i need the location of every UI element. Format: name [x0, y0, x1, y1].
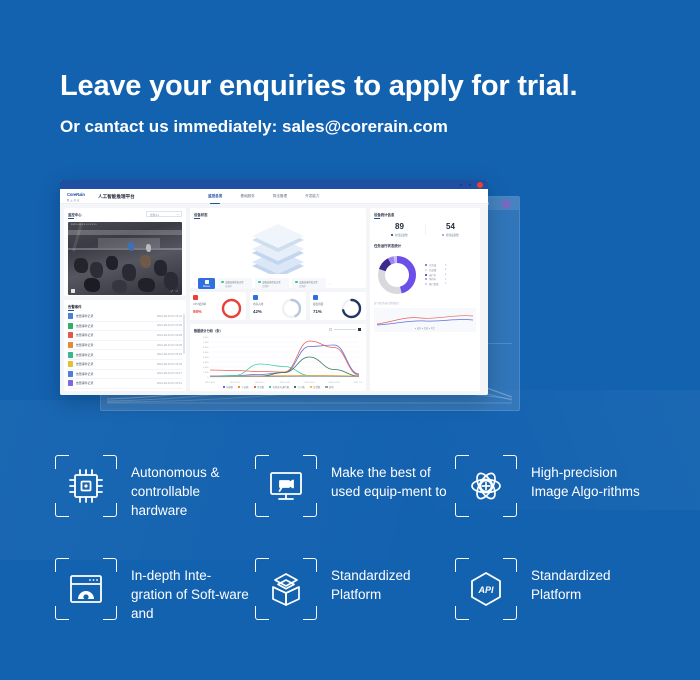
- minimize-icon[interactable]: [460, 184, 463, 187]
- device-line-2: 在线中: [225, 284, 232, 288]
- event-name: 告警事件记录: [76, 314, 157, 318]
- title-underline: [68, 310, 74, 311]
- device-card-title: 设备状态: [194, 212, 362, 217]
- list-item[interactable]: 告警事件记录2021-09-13 07:23:14: [68, 379, 182, 389]
- legend-item: 等待中1: [425, 277, 446, 282]
- nav-item-overview[interactable]: 监控总览: [208, 194, 222, 202]
- list-item[interactable]: 告警事件记录2021-09-13 07:23:31: [68, 312, 182, 322]
- legend-value: 4: [445, 268, 446, 271]
- line-chart-plot: 01,0002,0003,0004,0005,0006,0007,0008,00…: [194, 334, 362, 386]
- event-timestamp: 2021-09-13 07:23:22: [157, 363, 182, 366]
- gauge-ring: [281, 298, 302, 319]
- slider-track[interactable]: [334, 329, 356, 330]
- event-type-icon: [68, 323, 73, 329]
- feature-label: Standardized Platform: [531, 558, 651, 604]
- svg-text:2021-10-8: 2021-10-8: [280, 382, 291, 384]
- device-item[interactable]: 设备连接状态正常 在线中: [218, 278, 252, 289]
- monitor-camera-icon: [266, 466, 306, 506]
- svg-text:1,000: 1,000: [203, 372, 209, 374]
- legend-swatch: [269, 386, 271, 388]
- gauge-card: CPU使用率98%: [190, 292, 246, 320]
- stat-label: 离线设备数: [425, 233, 476, 237]
- legend-item[interactable]: 车辆数: [223, 385, 234, 389]
- status-dot: [258, 281, 260, 283]
- legend-label: 告警数: [313, 386, 320, 389]
- feature-icon-frame: [55, 558, 117, 620]
- svg-text:2021-10-7: 2021-10-7: [255, 382, 266, 384]
- feature-icon-frame: [255, 455, 317, 517]
- event-name: 告警事件记录: [76, 372, 157, 376]
- stat-value: 54: [425, 222, 476, 231]
- event-type-icon: [68, 342, 73, 348]
- stat-label: 在线设备数: [374, 233, 425, 237]
- events-list: 告警事件记录2021-09-13 07:23:31告警事件记录2021-09-1…: [68, 312, 182, 389]
- event-type-icon: [68, 332, 73, 338]
- legend-item[interactable]: 其他: [325, 385, 333, 389]
- slider-icon[interactable]: [358, 328, 361, 331]
- squares-icon[interactable]: [329, 328, 332, 331]
- app-header: CoreRain 鲲云科技 人工智能推理平台 监控总览 基础服务 算法管理 开发…: [60, 189, 488, 204]
- feature-item[interactable]: Autonomous & controllable hardware: [55, 455, 255, 520]
- event-type-icon: [68, 313, 73, 319]
- gauge-card: 磁盘容量71%: [310, 292, 366, 320]
- feature-icon-frame: [55, 455, 117, 517]
- mini-trend-card: ● 成功 ● 失败 ● 待定: [374, 308, 476, 332]
- event-timestamp: 2021-09-13 07:23:14: [157, 382, 182, 385]
- legend-swatch: [425, 274, 427, 276]
- right-column: 设备统计信息 89 在线设备数 54 离线设备数 任务运行状态统计: [370, 208, 480, 391]
- feature-icon-frame: [455, 455, 517, 517]
- device-item[interactable]: 设备连接状态正常 在线中: [255, 278, 289, 289]
- dashboard-app-window[interactable]: CoreRain 鲲云科技 人工智能推理平台 监控总览 基础服务 算法管理 开发…: [60, 180, 488, 395]
- legend-swatch: [238, 386, 240, 388]
- list-item[interactable]: 告警事件记录2021-09-13 07:23:23: [68, 350, 182, 360]
- feature-icon-frame: API: [455, 558, 517, 620]
- features-grid: Autonomous & controllable hardwareMake t…: [55, 455, 655, 623]
- event-type-icon: [68, 361, 73, 367]
- list-item[interactable]: 告警事件记录2021-09-13 07:23:28: [68, 331, 182, 341]
- middle-column: 设备状态: [190, 208, 366, 391]
- title-underline: [374, 218, 380, 219]
- alarm-events-card: 告警事件 告警事件记录2021-09-13 07:23:31告警事件记录2021…: [64, 300, 186, 391]
- legend-item[interactable]: 人员数: [238, 385, 249, 389]
- list-item[interactable]: 告警事件记录2021-09-13 07:23:22: [68, 360, 182, 370]
- server-icon: [205, 280, 209, 284]
- legend-item[interactable]: 告警数: [310, 385, 321, 389]
- legend-item: 已就绪4: [425, 268, 446, 273]
- title-underline: [194, 218, 200, 219]
- legend-label: 已就绪: [429, 268, 445, 272]
- prev-arrow-icon[interactable]: ‹: [194, 282, 195, 286]
- close-icon[interactable]: [477, 182, 483, 188]
- svg-text:2,000: 2,000: [203, 367, 209, 369]
- line-chart-legend: 车辆数人员数异常数非机动车通行数行人数告警数其他: [190, 385, 366, 389]
- donut-title: 任务运行状态统计: [374, 243, 476, 248]
- stat-value: 89: [374, 222, 425, 231]
- scrollbar[interactable]: [183, 314, 184, 354]
- legend-swatch: [425, 264, 427, 266]
- svg-text:API: API: [477, 585, 494, 595]
- avatar: [501, 199, 511, 209]
- page-headline: Leave your enquiries to apply for trial.: [60, 70, 577, 103]
- svg-text:7,000: 7,000: [203, 342, 209, 344]
- legend-item: 执行失败1: [425, 281, 446, 286]
- legend-swatch: [310, 386, 312, 388]
- nav-item-algorithms[interactable]: 算法管理: [273, 194, 287, 202]
- event-type-icon: [68, 371, 73, 377]
- legend-item: 运行中2: [425, 272, 446, 277]
- maximize-icon[interactable]: [469, 184, 472, 187]
- brand-logo: CoreRain: [67, 192, 85, 197]
- event-timestamp: 2021-09-13 07:23:23: [157, 353, 182, 356]
- legend-swatch: [425, 283, 427, 285]
- svg-text:0: 0: [207, 377, 209, 379]
- stack-illustration: [194, 220, 362, 274]
- legend-label: 执行失败: [429, 282, 445, 286]
- monitor-feed-card: 监控中心 摄像头1: [64, 208, 186, 296]
- chevron-down-icon: [177, 214, 179, 215]
- svg-text:8,000: 8,000: [203, 337, 209, 339]
- stat-offline: 54 离线设备数: [425, 222, 476, 237]
- event-name: 告警事件记录: [76, 381, 157, 385]
- landing-page: Leave your enquiries to apply for trial.…: [0, 0, 700, 680]
- device-line-2: 在线中: [299, 284, 306, 288]
- contact-subheadline: Or cantact us immediately: sales@corerai…: [60, 117, 448, 137]
- app-title: 人工智能推理平台: [98, 194, 135, 200]
- legend-item[interactable]: 异常数: [254, 385, 265, 389]
- video-stop-icon[interactable]: [71, 289, 75, 293]
- video-osd-timestamp: 2021-09-13 07:23:11: [71, 224, 97, 226]
- camera-select[interactable]: 摄像头1: [146, 211, 182, 217]
- legend-label: 行人数: [298, 386, 305, 389]
- video-fullscreen-icon[interactable]: ⤢ ⛶: [171, 289, 179, 293]
- donut-legend: 已完成3已就绪4运行中2等待中1执行失败1: [425, 263, 446, 286]
- nav-item-services[interactable]: 基础服务: [240, 194, 254, 202]
- feature-item[interactable]: Make the best of used equip-ment to: [255, 455, 455, 520]
- svg-text:2021-10-6: 2021-10-6: [230, 382, 241, 384]
- summary-note: 近7日任务运行趋势统计: [374, 301, 476, 305]
- feature-item[interactable]: High-precision Image Algo-rithms: [455, 455, 655, 520]
- donut-section: 已完成3已就绪4运行中2等待中1执行失败1: [374, 252, 476, 298]
- donut-chart: [374, 252, 420, 298]
- left-column: 监控中心 摄像头1: [64, 208, 186, 391]
- title-underline: [68, 218, 74, 219]
- legend-label: 已完成: [429, 263, 445, 267]
- feature-label: High-precision Image Algo-rithms: [531, 455, 651, 501]
- gauge-badge-icon: [253, 295, 258, 300]
- svg-text:6,000: 6,000: [203, 347, 209, 349]
- device-strip: ‹ Master 设备连接状态正常 在线中 设备连接状态正常: [194, 278, 362, 289]
- svg-text:2021-10-9: 2021-10-9: [304, 382, 315, 384]
- feature-icon-frame: [255, 558, 317, 620]
- list-item[interactable]: 告警事件记录2021-09-13 07:23:17: [68, 370, 182, 380]
- event-type-icon: [68, 352, 73, 358]
- svg-text:5,000: 5,000: [203, 352, 209, 354]
- cpu-chip-icon: [66, 466, 106, 506]
- feature-label: In-depth Inte-gration of Soft-ware and: [131, 558, 251, 623]
- gauge-card: 内存占用42%: [250, 292, 306, 320]
- event-timestamp: 2021-09-13 07:23:31: [157, 315, 182, 318]
- legend-item: 已完成3: [425, 263, 446, 268]
- event-name: 告警事件记录: [76, 343, 157, 347]
- summary-card: 设备统计信息 89 在线设备数 54 离线设备数 任务运行状态统计: [370, 208, 480, 391]
- legend-swatch: [294, 386, 296, 388]
- event-timestamp: 2021-09-13 07:23:29: [157, 324, 182, 327]
- svg-text:4,000: 4,000: [203, 357, 209, 359]
- gauges-row: CPU使用率98%内存占用42%磁盘容量71%: [190, 292, 366, 320]
- legend-value: 2: [445, 273, 446, 276]
- atom-icon: [466, 466, 506, 506]
- legend-label: 等待中: [429, 277, 445, 281]
- gauge-ring: [221, 298, 242, 319]
- camera-select-value: 摄像头1: [150, 213, 159, 217]
- legend-label: 其他: [329, 386, 334, 389]
- feature-label: Autonomous & controllable hardware: [131, 455, 251, 520]
- event-timestamp: 2021-09-13 07:23:25: [157, 344, 182, 347]
- device-item[interactable]: 设备连接状态正常 在线中: [292, 278, 326, 289]
- event-name: 告警事件记录: [76, 333, 157, 337]
- stat-online: 89 在线设备数: [374, 222, 425, 237]
- event-name: 告警事件记录: [76, 362, 157, 366]
- nav-item-dev[interactable]: 开发能力: [305, 194, 319, 202]
- gauge-badge-icon: [193, 295, 198, 300]
- stats-row: 89 在线设备数 54 离线设备数: [374, 222, 476, 237]
- window-titlebar: [60, 180, 488, 189]
- legend-item[interactable]: 行人数: [294, 385, 305, 389]
- app-body: 监控中心 摄像头1: [60, 204, 488, 395]
- svg-text:3,000: 3,000: [203, 362, 209, 364]
- svg-text:2021-10-5: 2021-10-5: [205, 382, 216, 384]
- feature-item[interactable]: In-depth Inte-gration of Soft-ware and: [55, 558, 255, 623]
- next-arrow-icon[interactable]: ›: [329, 282, 330, 286]
- status-dot: [295, 281, 297, 283]
- main-nav: 监控总览 基础服务 算法管理 开发能力: [208, 194, 320, 202]
- device-chip-master[interactable]: Master: [198, 278, 215, 289]
- legend-swatch: [254, 386, 256, 388]
- feature-label: Make the best of used equip-ment to: [331, 455, 451, 501]
- gauge-ring: [341, 298, 362, 319]
- api-hexagon-icon: API: [466, 569, 506, 609]
- event-type-icon: [68, 380, 73, 386]
- legend-label: 异常数: [257, 386, 264, 389]
- event-name: 告警事件记录: [76, 353, 157, 357]
- legend-swatch: [325, 386, 327, 388]
- event-timestamp: 2021-09-13 07:23:17: [157, 372, 182, 375]
- gauge-badge-icon: [313, 295, 318, 300]
- legend-label: 车辆数: [226, 386, 233, 389]
- legend-label: 人员数: [241, 386, 248, 389]
- events-card-title: 告警事件: [68, 304, 182, 309]
- legend-value: 1: [445, 282, 446, 285]
- device-chip-label: Master: [198, 285, 215, 288]
- feature-item[interactable]: Standardized Platform: [255, 558, 455, 623]
- chart-toggle[interactable]: [329, 328, 361, 331]
- device-status-card: 设备状态: [190, 208, 366, 288]
- window-gear-icon: [66, 569, 106, 609]
- device-line-2: 在线中: [262, 284, 269, 288]
- summary-card-title: 设备统计信息: [374, 212, 476, 217]
- mini-legend: ● 成功 ● 失败 ● 待定: [374, 326, 476, 330]
- legend-item[interactable]: 非机动车通行数: [269, 385, 289, 389]
- event-name: 告警事件记录: [76, 324, 157, 328]
- legend-value: 1: [445, 278, 446, 281]
- svg-text:2021-10-10: 2021-10-10: [329, 382, 341, 384]
- legend-value: 3: [445, 264, 446, 267]
- legend-swatch: [425, 278, 427, 280]
- feature-item[interactable]: APIStandardized Platform: [455, 558, 655, 623]
- list-item[interactable]: 告警事件记录2021-09-13 07:23:29: [68, 322, 182, 332]
- video-feed[interactable]: 2021-09-13 07:23:11 ⤢ ⛶: [68, 222, 182, 295]
- legend-swatch: [425, 269, 427, 271]
- brand-subtitle: 鲲云科技: [67, 198, 81, 202]
- status-dot: [221, 281, 223, 283]
- legend-swatch: [223, 386, 225, 388]
- event-timestamp: 2021-09-13 07:23:28: [157, 334, 182, 337]
- feature-label: Standardized Platform: [331, 558, 451, 604]
- legend-label: 运行中: [429, 273, 445, 277]
- svg-text:2021-10-11: 2021-10-11: [353, 382, 362, 384]
- line-chart-card: 数据统计分析（条） 01,0002,0003,0004,0005,0006,00…: [190, 324, 366, 391]
- open-box-icon: [266, 569, 306, 609]
- legend-label: 非机动车通行数: [273, 386, 290, 389]
- list-item[interactable]: 告警事件记录2021-09-13 07:23:25: [68, 341, 182, 351]
